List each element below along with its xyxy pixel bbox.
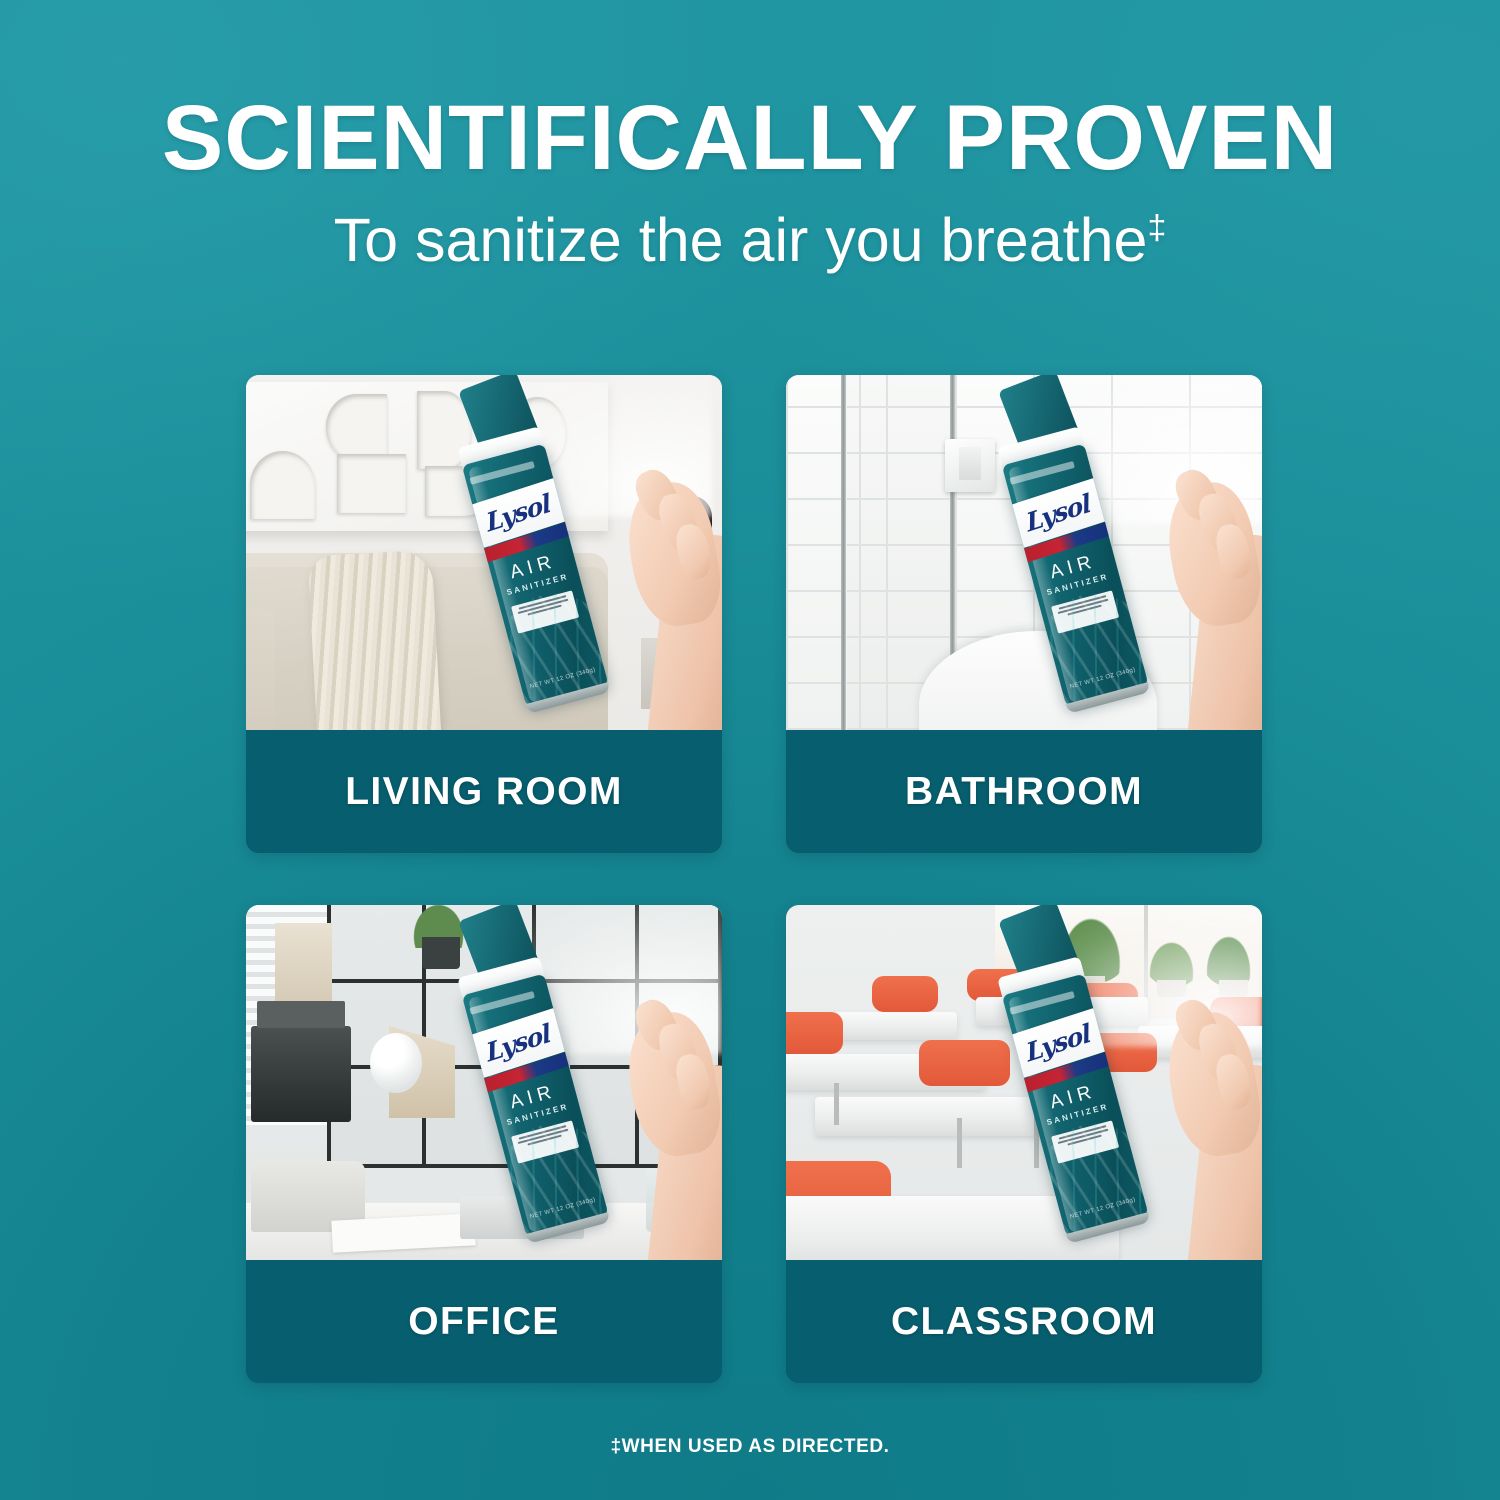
can-body: Lysol AIR SANITIZER NET WT 12 OZ (340g) <box>1001 444 1148 710</box>
card-living-room[interactable]: Lysol AIR SANITIZER NET WT 12 OZ (340g) … <box>246 375 722 853</box>
printer <box>251 1026 351 1122</box>
caption-classroom: CLASSROOM <box>786 1260 1262 1383</box>
hand-holding-can: Lysol AIR SANITIZER NET WT 12 OZ (340g) <box>474 962 722 1260</box>
lysol-air-sanitizer-can: Lysol AIR SANITIZER NET WT 12 OZ (340g) <box>1001 974 1148 1240</box>
marketing-banner: SCIENTIFICALLY PROVEN To sanitize the ai… <box>0 0 1500 1500</box>
light-switch-plate <box>945 439 995 492</box>
legal-footnote: ‡WHEN USED AS DIRECTED. <box>0 1436 1500 1458</box>
can-info-label <box>511 590 579 633</box>
photo-living-room: Lysol AIR SANITIZER NET WT 12 OZ (340g) <box>246 375 722 730</box>
lysol-air-sanitizer-can: Lysol AIR SANITIZER NET WT 12 OZ (340g) <box>1001 444 1148 710</box>
desk-leg <box>957 1118 962 1168</box>
can-body: Lysol AIR SANITIZER NET WT 12 OZ (340g) <box>461 974 608 1240</box>
decorative-sphere <box>370 1033 422 1093</box>
knit-throw-blanket <box>307 549 441 730</box>
card-bathroom[interactable]: Lysol AIR SANITIZER NET WT 12 OZ (340g) … <box>786 375 1262 853</box>
caption-label: CLASSROOM <box>891 1300 1157 1344</box>
tile-panel-left <box>786 375 843 730</box>
card-office[interactable]: Lysol AIR SANITIZER NET WT 12 OZ (340g) … <box>246 905 722 1383</box>
lysol-air-sanitizer-can: Lysol AIR SANITIZER NET WT 12 OZ (340g) <box>461 444 608 710</box>
plant-pot <box>422 937 460 969</box>
can-info-label <box>1051 590 1119 633</box>
can-info-label <box>1051 1120 1119 1163</box>
can-body: Lysol AIR SANITIZER NET WT 12 OZ (340g) <box>461 444 608 710</box>
subheadline-footnote-marker: ‡ <box>1147 209 1166 247</box>
sofa-armrest <box>246 609 275 730</box>
desk-leg <box>834 1083 839 1126</box>
caption-label: OFFICE <box>408 1300 559 1344</box>
subheadline-text: To sanitize the air you breathe <box>334 206 1148 274</box>
card-classroom[interactable]: Lysol AIR SANITIZER NET WT 12 OZ (340g) … <box>786 905 1262 1383</box>
photo-classroom: Lysol AIR SANITIZER NET WT 12 OZ (340g) <box>786 905 1262 1260</box>
photo-office: Lysol AIR SANITIZER NET WT 12 OZ (340g) <box>246 905 722 1260</box>
photo-bathroom: Lysol AIR SANITIZER NET WT 12 OZ (340g) <box>786 375 1262 730</box>
use-case-grid: Lysol AIR SANITIZER NET WT 12 OZ (340g) … <box>246 375 1262 1383</box>
classroom-chair <box>872 976 939 1012</box>
header-block: SCIENTIFICALLY PROVEN To sanitize the ai… <box>0 92 1500 272</box>
hand-holding-can: Lysol AIR SANITIZER NET WT 12 OZ (340g) <box>1014 962 1262 1260</box>
caption-label: LIVING ROOM <box>345 770 623 814</box>
file-box <box>275 923 332 1001</box>
can-body: Lysol AIR SANITIZER NET WT 12 OZ (340g) <box>1001 974 1148 1240</box>
classroom-chair <box>786 1012 843 1055</box>
headline: SCIENTIFICALLY PROVEN <box>0 92 1500 184</box>
caption-office: OFFICE <box>246 1260 722 1383</box>
can-info-label <box>511 1120 579 1163</box>
hand-holding-can: Lysol AIR SANITIZER NET WT 12 OZ (340g) <box>474 432 722 730</box>
hand-holding-can: Lysol AIR SANITIZER NET WT 12 OZ (340g) <box>1014 432 1262 730</box>
caption-label: BATHROOM <box>905 770 1143 814</box>
caption-living-room: LIVING ROOM <box>246 730 722 853</box>
subheadline: To sanitize the air you breathe‡ <box>0 208 1500 272</box>
panel-seam <box>841 375 846 730</box>
classroom-chair <box>919 1040 1009 1086</box>
lysol-air-sanitizer-can: Lysol AIR SANITIZER NET WT 12 OZ (340g) <box>461 974 608 1240</box>
caption-bathroom: BATHROOM <box>786 730 1262 853</box>
